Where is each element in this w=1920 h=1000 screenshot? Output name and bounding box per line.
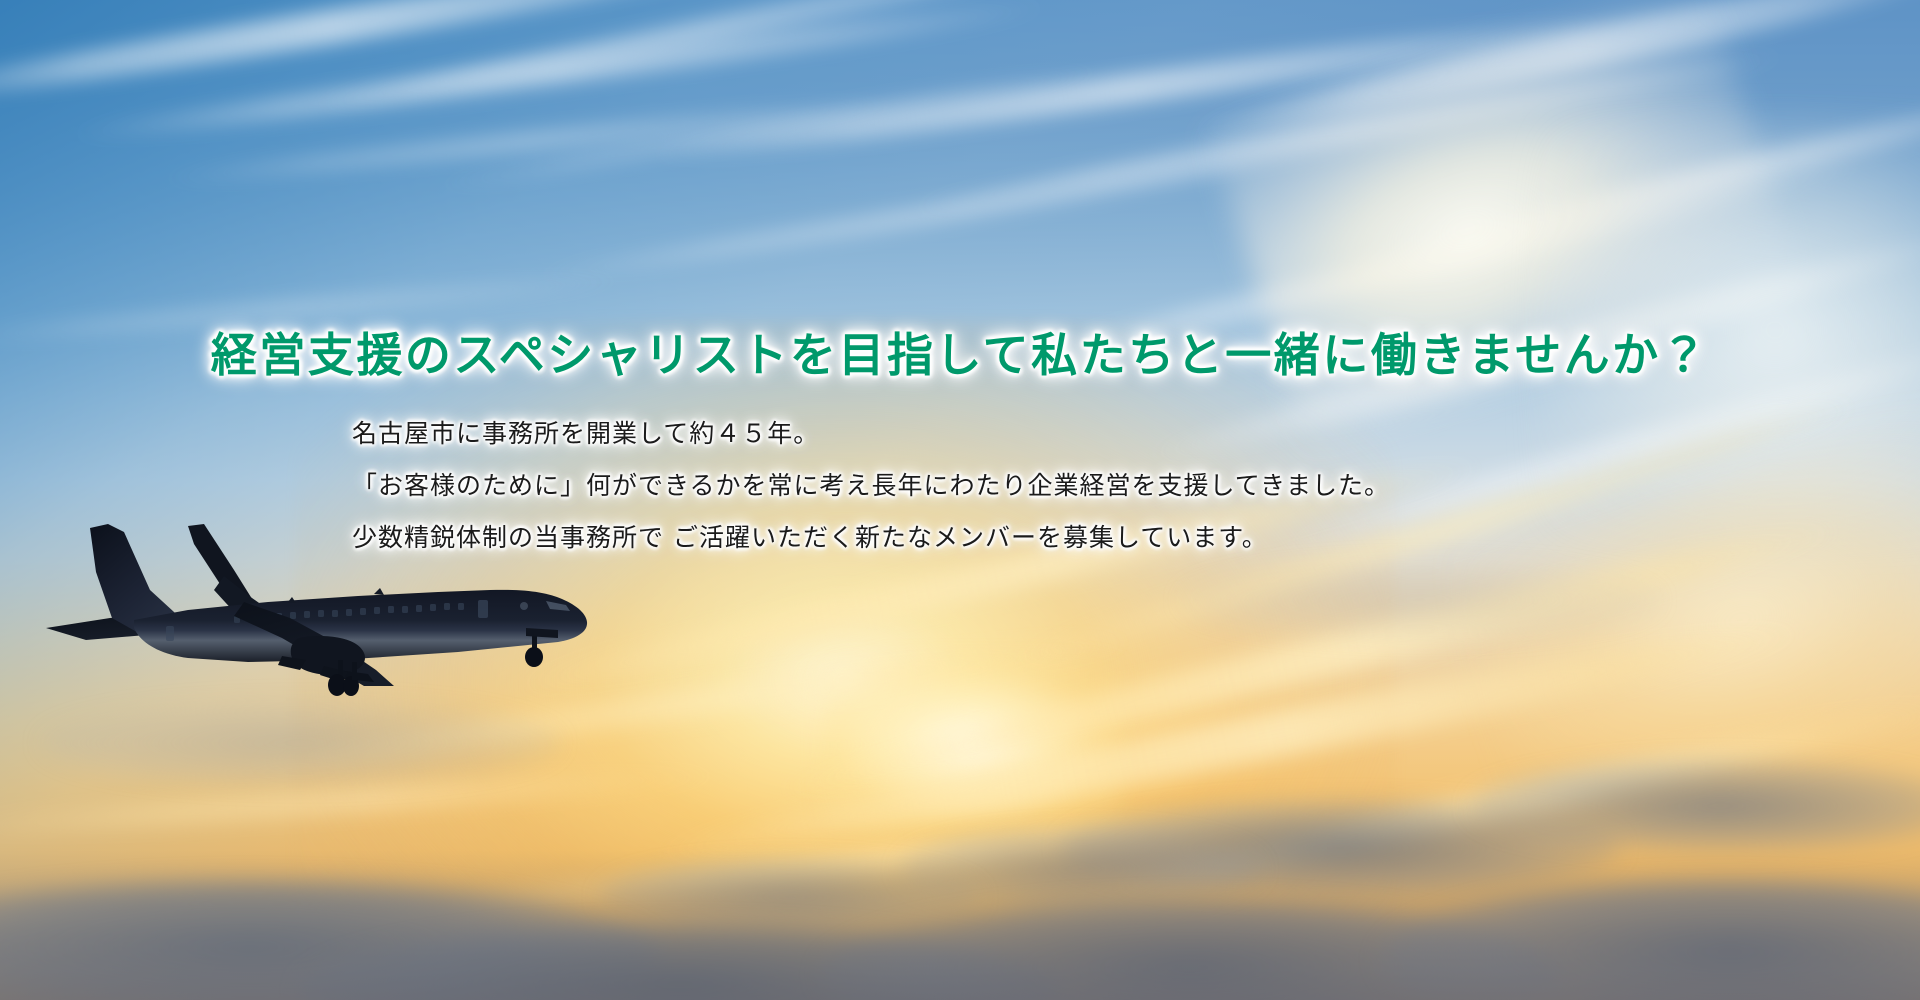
dark-cloud-bank xyxy=(1180,560,1660,640)
horizon-haze xyxy=(0,850,1920,1000)
hero-headline: 経営支援のスペシャリストを目指して私たちと一緒に働きませんか？ xyxy=(0,319,1920,385)
dark-cloud-bank xyxy=(40,700,560,786)
lead-line-2: 「お客様のために」何ができるかを常に考え長年にわたり企業経営を支援してきました。 xyxy=(352,460,1390,512)
lead-line-1: 名古屋市に事務所を開業して約４５年。 xyxy=(352,408,1390,460)
lead-line-3: 少数精鋭体制の当事務所で ご活躍いただく新たなメンバーを募集しています。 xyxy=(352,512,1390,564)
hero-banner: 経営支援のスペシャリストを目指して私たちと一緒に働きませんか？ 名古屋市に事務所… xyxy=(0,0,1920,1000)
hero-lead-text: 名古屋市に事務所を開業して約４５年。 「お客様のために」何ができるかを常に考え長… xyxy=(352,408,1390,564)
